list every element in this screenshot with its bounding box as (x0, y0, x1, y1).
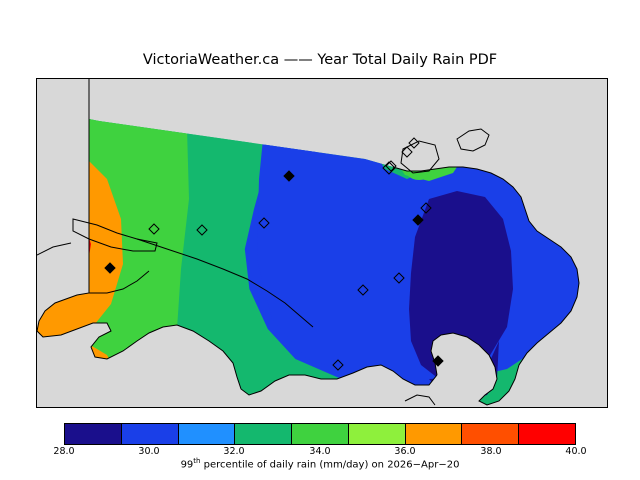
colorbar-swatch-6 (405, 424, 462, 444)
colorbar-tick-6: 40.0 (565, 446, 586, 457)
colorbar-caption: 99th percentile of daily rain (mm/day) o… (0, 457, 640, 470)
map-graphic (37, 79, 607, 407)
colorbar-swatch-2 (178, 424, 235, 444)
colorbar-swatch-0 (65, 424, 121, 444)
colorbar-tick-1: 30.0 (138, 446, 159, 457)
colorbar-swatch-4 (291, 424, 348, 444)
caption-suffix: percentile of daily rain (mm/day) on 202… (200, 459, 459, 470)
colorbar-tick-2: 32.0 (223, 446, 244, 457)
colorbar-swatch-8 (518, 424, 575, 444)
colorbar-tick-3: 34.0 (309, 446, 330, 457)
colorbar-swatch-7 (461, 424, 518, 444)
colorbar-swatch-3 (234, 424, 291, 444)
colorbar (64, 423, 576, 445)
page-title: VictoriaWeather.ca —— Year Total Daily R… (0, 52, 640, 68)
colorbar-swatch-5 (348, 424, 405, 444)
colorbar-tick-5: 38.0 (480, 446, 501, 457)
colorbar-tick-0: 28.0 (53, 446, 74, 457)
colorbar-swatch-1 (121, 424, 178, 444)
caption-prefix: 99 (181, 459, 194, 470)
colorbar-tick-4: 36.0 (394, 446, 415, 457)
map-panel (36, 78, 608, 408)
